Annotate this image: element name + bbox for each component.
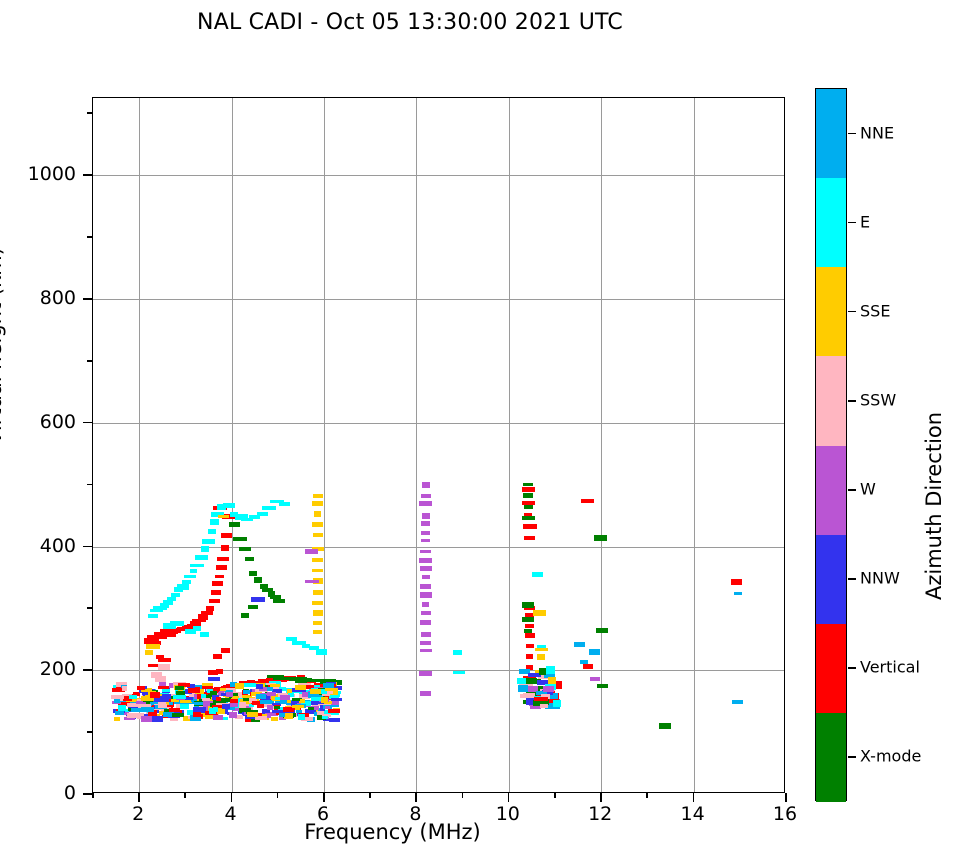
data-mark-w [421,611,431,615]
data-mark-sse [312,558,323,562]
colorbar-label-w: W [860,480,876,499]
colorbar-segment-w[interactable] [816,446,846,535]
data-mark-w [421,632,431,637]
data-mark-noise [202,686,213,689]
y-axis-tick-label: 0 [0,782,76,804]
data-mark-noise [546,666,555,674]
data-mark-noise [270,684,280,687]
data-mark-e [453,671,465,674]
data-mark-noise [311,701,318,705]
data-mark-vertical [526,654,533,659]
data-mark-noise [295,685,306,690]
colorbar-segment-nne[interactable] [816,89,846,178]
data-mark-noise [221,693,226,696]
data-mark-nne [580,660,588,664]
x-axis-minor-tick [646,793,648,798]
x-axis-minor-tick [369,793,371,798]
data-mark-noise [122,686,127,691]
data-mark-noise [188,687,200,693]
data-mark-e [171,593,180,597]
data-mark-w [420,592,432,598]
data-mark-noise [328,709,340,713]
data-mark-noise [243,690,250,694]
colorbar-label-nne: NNE [860,123,894,142]
data-mark-noise [331,698,342,701]
data-mark-noise [274,706,280,709]
data-mark-noise [325,688,338,691]
data-mark-noise [141,707,154,712]
y-axis-minor-tick [87,484,92,486]
data-mark-sse [537,654,545,660]
data-mark-noise [226,692,233,697]
y-axis-minor-tick [87,607,92,609]
data-mark-vertical [523,524,537,529]
x-axis-tick [415,793,417,802]
data-mark-x-mode [524,629,532,633]
ionogram-data-points [93,98,784,792]
data-mark-e [316,649,327,655]
data-mark-vertical [525,633,535,638]
data-mark-noise [141,716,152,722]
data-mark-noise [534,697,548,701]
data-mark-noise [162,694,171,699]
data-mark-e [184,575,196,578]
data-mark-nne [589,649,600,655]
y-axis-minor-tick [87,112,92,114]
x-axis-minor-tick [184,793,186,798]
data-mark-x-mode [596,628,608,633]
data-mark-x-mode [312,679,320,682]
data-mark-w [422,513,430,519]
data-mark-noise [298,714,305,720]
data-mark-noise [118,705,126,711]
data-mark-noise [548,677,556,684]
data-mark-sse [218,515,229,518]
data-mark-w [590,677,600,681]
data-mark-nne [574,642,585,647]
data-mark-x-mode [597,684,608,688]
colorbar[interactable] [815,88,847,801]
data-mark-x-mode [523,493,533,498]
data-mark-noise [150,692,160,698]
data-mark-sse [312,569,323,572]
data-mark-e [453,650,462,655]
data-mark-vertical [212,581,223,586]
colorbar-label-e: E [860,212,870,231]
data-mark-noise [193,712,201,717]
data-mark-noise [162,689,170,692]
data-mark-w [420,550,431,553]
colorbar-title: Azimuth Direction [922,412,946,600]
data-mark-x-mode [241,613,249,618]
data-mark-noise [540,704,548,708]
data-mark-vertical [217,557,229,561]
data-mark-noise [220,688,226,691]
y-axis-minor-tick [87,236,92,238]
y-axis-tick-label: 200 [0,658,76,680]
data-mark-x-mode [522,602,534,608]
data-mark-vertical [731,579,742,585]
data-mark-vertical [525,624,534,628]
x-axis-minor-tick [554,793,556,798]
data-mark-noise [256,684,263,689]
data-mark-vertical [581,499,594,503]
data-mark-w [419,501,432,506]
data-mark-x-mode [594,535,607,541]
y-axis-tick [83,793,92,795]
data-mark-noise [300,699,305,703]
data-mark-noise [158,704,167,708]
colorbar-segment-nnw[interactable] [816,535,846,624]
data-mark-x-mode [249,571,257,576]
data-mark-noise [213,715,223,720]
data-mark-e [170,621,184,626]
plot-area [92,97,785,793]
data-mark-sse [312,601,323,605]
data-mark-noise [129,695,137,699]
data-mark-w [422,482,430,488]
data-mark-noise [127,713,137,718]
data-mark-noise [252,701,260,705]
x-axis-minor-tick [277,793,279,798]
colorbar-tick [848,667,856,669]
colorbar-label-nnw: NNW [860,569,900,588]
data-mark-vertical [211,590,221,595]
chart-title: NAL CADI - Oct 05 13:30:00 2021 UTC [0,10,820,35]
colorbar-segment-ssw[interactable] [816,356,846,445]
data-mark-vertical [216,565,227,570]
y-axis-tick [83,422,92,424]
data-mark-e [532,572,543,577]
data-mark-noise [267,705,273,710]
data-mark-e [200,632,209,637]
data-mark-noise [151,716,163,722]
data-mark-noise [321,697,328,703]
data-mark-noise [308,707,314,710]
data-mark-sse [313,610,323,616]
data-mark-vertical [526,644,534,648]
data-mark-vertical [215,575,224,578]
data-mark-nne [734,592,742,595]
data-mark-vertical [524,536,535,540]
data-mark-w [421,531,430,535]
data-mark-x-mode [523,483,533,486]
data-mark-noise [518,685,528,692]
data-mark-noise [229,703,238,707]
data-mark-e [182,580,191,584]
data-mark-sse [313,590,323,595]
data-mark-e [193,626,201,631]
data-mark-noise [172,713,184,717]
data-mark-noise [175,686,184,690]
data-mark-noise [216,697,221,701]
data-mark-e [210,519,219,525]
data-mark-noise [114,717,120,721]
data-mark-sse [312,522,323,527]
data-mark-noise [111,695,124,699]
data-mark-noise [194,702,203,705]
data-mark-sse [313,621,322,625]
data-mark-x-mode [522,516,535,520]
data-mark-vertical [209,599,220,603]
data-mark-w [305,549,318,554]
data-mark-noise [157,699,169,702]
data-mark-noise [173,695,186,699]
data-mark-e [262,506,276,510]
colorbar-label-vertical: Vertical [860,658,920,677]
data-mark-w [420,620,431,625]
x-axis-tick [231,793,233,802]
data-mark-w [419,558,432,563]
data-mark-x-mode [233,537,247,541]
data-mark-noise [279,713,285,717]
colorbar-label-ssw: SSW [860,390,896,409]
data-mark-noise [543,686,554,692]
data-mark-x-mode [522,617,534,622]
data-mark-sse [314,511,321,517]
colorbar-tick [848,489,856,491]
data-mark-noise [115,711,124,715]
data-mark-e [223,503,235,508]
data-mark-e [167,597,176,601]
data-mark-noise [267,692,276,696]
colorbar-tick [848,400,856,402]
data-mark-w [419,671,432,676]
y-axis-tick-label: 800 [0,287,76,309]
data-mark-w [305,580,319,583]
data-mark-noise [239,702,246,708]
colorbar-tick [848,133,856,135]
colorbar-segment-x-mode[interactable] [816,713,846,802]
y-axis-tick [83,669,92,671]
data-mark-noise [247,712,258,717]
data-mark-e [208,529,216,534]
data-mark-w [421,539,430,542]
colorbar-tick [848,222,856,224]
data-mark-noise [310,689,321,694]
data-mark-w [422,575,430,579]
data-mark-sse [145,650,153,655]
data-mark-noise [213,707,218,712]
data-mark-x-mode [273,599,285,603]
data-mark-sse [312,501,323,506]
colorbar-tick [848,311,856,313]
y-axis-label: Virtual height (km) [0,247,6,445]
data-mark-noise [539,668,546,675]
data-mark-noise [259,700,272,704]
data-mark-w [421,521,430,526]
data-mark-w [420,649,432,652]
data-mark-sse [535,648,548,651]
data-mark-x-mode [524,505,533,509]
data-mark-noise [114,699,120,703]
data-mark-x-mode [659,723,671,729]
colorbar-tick [848,578,856,580]
data-mark-noise [180,704,189,709]
data-mark-w [420,584,431,589]
y-axis-minor-tick [87,731,92,733]
y-axis-tick-label: 600 [0,411,76,433]
data-mark-nne [732,700,743,704]
colorbar-segment-vertical[interactable] [816,624,846,713]
data-mark-noise [229,712,237,718]
data-mark-noise [280,700,287,704]
data-mark-vertical [201,611,213,615]
data-mark-vertical [221,648,230,653]
data-mark-vertical [158,658,171,662]
data-mark-x-mode [229,522,240,527]
data-mark-x-mode [245,557,254,561]
x-axis-tick [693,793,695,802]
data-mark-x-mode [248,605,258,609]
data-mark-x-mode [254,577,262,583]
data-mark-noise [271,717,278,721]
data-mark-e [190,564,204,567]
x-axis-tick [600,793,602,802]
data-mark-noise [322,716,328,719]
y-axis-tick-label: 1000 [0,163,76,185]
colorbar-tick [848,756,856,758]
data-mark-w [421,494,431,498]
data-mark-noise [235,683,244,689]
x-axis-tick [508,793,510,802]
data-mark-w [420,691,431,696]
data-mark-x-mode [239,547,251,551]
data-mark-vertical [148,664,158,667]
data-mark-e [195,555,208,560]
data-mark-vertical [206,606,214,611]
x-axis-tick [138,793,140,802]
data-mark-noise [325,706,330,709]
colorbar-segment-sse[interactable] [816,267,846,356]
y-axis-minor-tick [87,360,92,362]
x-axis-tick [323,793,325,802]
x-axis-tick [785,793,787,802]
data-mark-sse [313,494,323,498]
data-mark-e [201,546,209,552]
data-mark-noise [222,704,230,709]
y-axis-tick [83,174,92,176]
colorbar-label-x-mode: X-mode [860,747,921,766]
data-mark-vertical [221,533,232,538]
data-mark-noise [202,698,210,701]
x-axis-minor-tick [462,793,464,798]
data-mark-e [202,539,215,544]
data-mark-sse [533,610,546,616]
data-mark-noise [185,697,193,700]
data-mark-sse [313,630,322,634]
data-mark-e [257,512,268,516]
data-mark-vertical [583,664,593,669]
data-mark-noise [280,695,290,700]
data-mark-noise [292,705,304,708]
y-axis-tick [83,298,92,300]
data-mark-vertical [522,487,535,492]
x-axis-minor-tick [92,793,94,798]
data-mark-nnw [208,677,220,681]
data-mark-vertical [216,669,223,674]
data-mark-e [177,584,189,590]
colorbar-segment-e[interactable] [816,178,846,267]
data-mark-e [279,502,290,506]
data-mark-w [420,641,431,645]
colorbar-label-sse: SSE [860,301,890,320]
data-mark-sse [146,644,160,649]
data-mark-noise [329,718,340,722]
data-mark-ssw [158,664,170,670]
data-mark-sse [313,533,323,537]
x-axis-label: Frequency (MHz) [0,820,785,844]
data-mark-vertical [213,654,222,659]
data-mark-noise [137,686,145,690]
data-mark-e [190,569,197,573]
data-mark-w [420,566,432,571]
data-mark-w [422,602,429,607]
data-mark-noise [256,694,266,699]
data-mark-vertical [221,545,229,551]
y-axis-tick [83,546,92,548]
data-mark-noise [244,683,256,687]
y-axis-tick-label: 400 [0,535,76,557]
data-mark-noise [553,700,561,707]
data-mark-e [148,614,158,618]
data-mark-nnw [251,597,265,602]
data-mark-ssw [155,676,166,682]
